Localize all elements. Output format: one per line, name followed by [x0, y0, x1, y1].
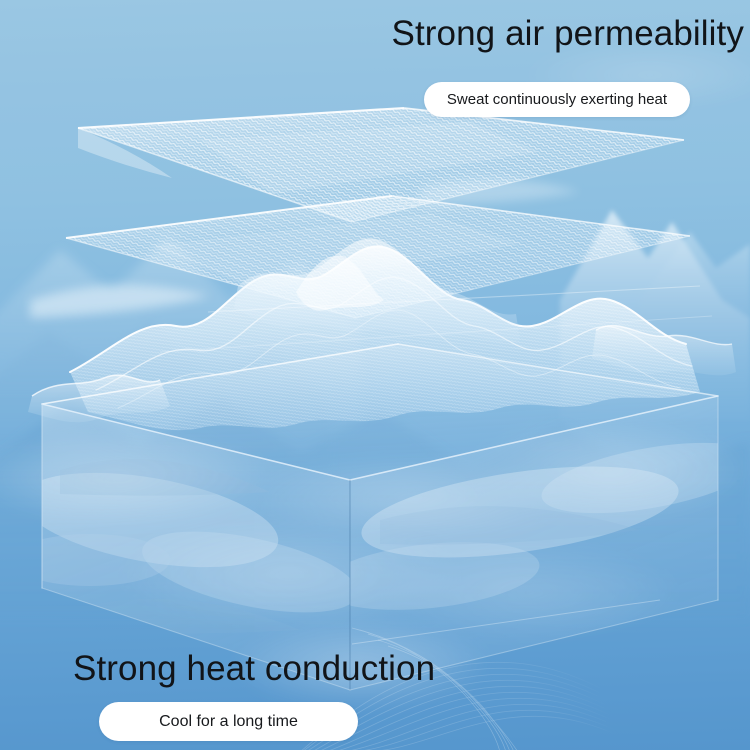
- page-title-bottom: Strong heat conduction: [73, 647, 435, 691]
- status-badge-top: Sweat continuously exerting heat: [424, 82, 690, 117]
- page-title-top: Strong air permeability: [392, 12, 744, 56]
- feature-graphic: Strong air permeability Sweat continuous…: [0, 0, 750, 750]
- status-badge-bottom: Cool for a long time: [99, 702, 358, 741]
